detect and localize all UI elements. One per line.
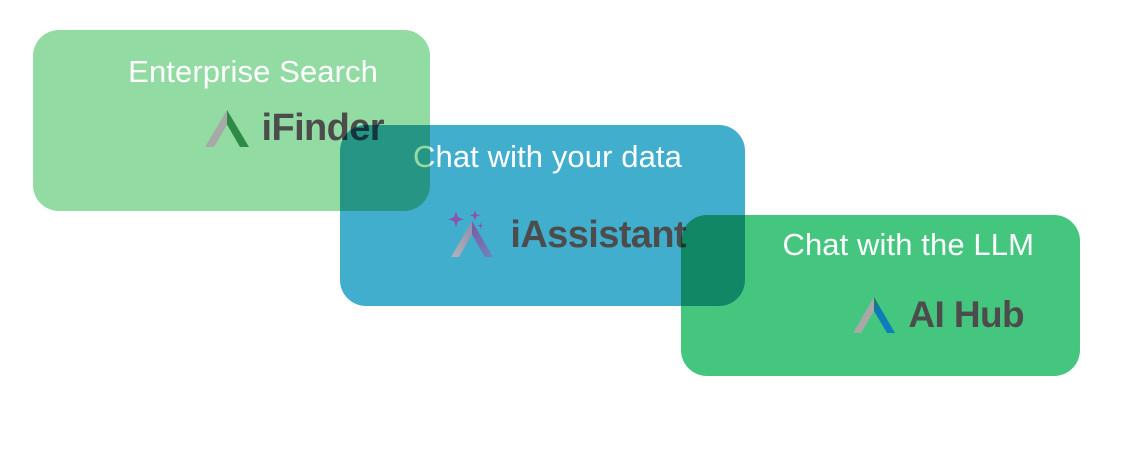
lambda-peak-icon xyxy=(201,106,253,150)
card-title-ifinder: Enterprise Search xyxy=(128,56,378,89)
wordmark-aihub: AI Hub xyxy=(908,296,1024,333)
lambda-peak-sparkle-icon xyxy=(444,210,500,260)
product-card-stage: Enterprise Search iFinder Chat with your… xyxy=(0,0,1140,466)
wordmark-iassistant: iAssistant xyxy=(510,216,686,254)
logo-lockup-iassistant: iAssistant xyxy=(444,210,686,260)
lambda-peak-icon xyxy=(849,294,899,336)
card-title-aihub: Chat with the LLM xyxy=(782,229,1034,262)
card-title-iassistant: Chat with your data xyxy=(413,141,682,174)
card-content-aihub: Chat with the LLM AI Hub xyxy=(681,215,1080,376)
logo-lockup-aihub: AI Hub xyxy=(849,294,1024,336)
product-card-aihub[interactable]: Chat with the LLM AI Hub xyxy=(681,215,1080,376)
